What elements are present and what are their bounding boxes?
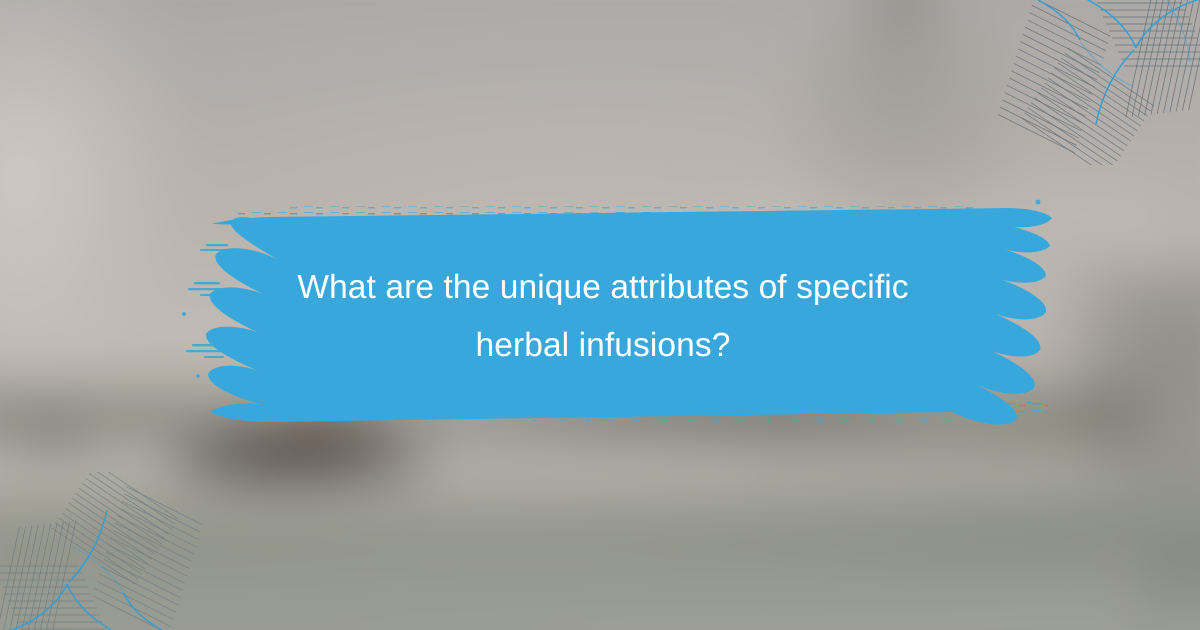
question-text-block: What are the unique attributes of specif…: [148, 186, 1058, 448]
card-canvas: What are the unique attributes of specif…: [0, 0, 1200, 630]
question-line-1: What are the unique attributes of specif…: [297, 260, 908, 316]
question-banner: What are the unique attributes of specif…: [148, 186, 1058, 448]
question-line-2: herbal infusions?: [476, 318, 731, 374]
